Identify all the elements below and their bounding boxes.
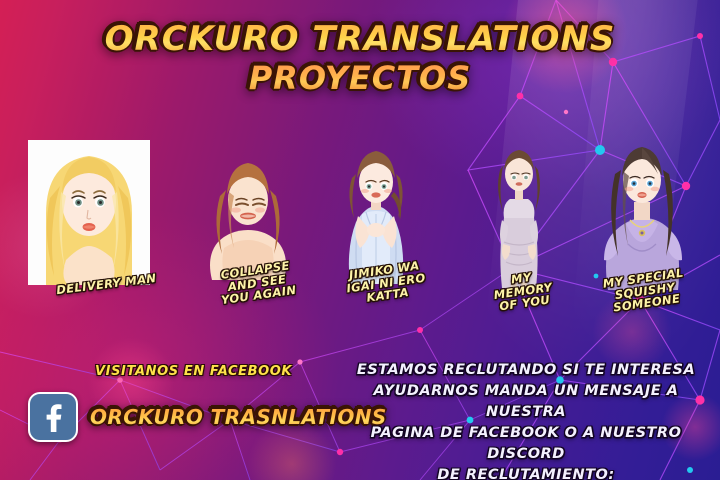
- title-line-secondary: PROYECTOS: [0, 62, 720, 94]
- facebook-icon[interactable]: [28, 392, 78, 442]
- project-character-my-memory-of-you: [478, 142, 560, 288]
- project-character-delivery-man: [28, 140, 150, 285]
- recruiting-message: ESTAMOS RECLUTANDO SI TE INTERESA AYUDAR…: [336, 360, 716, 480]
- promo-banner: ORCKURO TRANSLATIONS PROYECTOS: [0, 0, 720, 480]
- recruiting-line-4: DE RECLUTAMIENTO:: [336, 465, 716, 480]
- recruiting-line-2: AYUDARNOS MANDA UN MENSAJE A NUESTRA: [336, 381, 716, 423]
- banner-title: ORCKURO TRANSLATIONS PROYECTOS: [0, 22, 720, 94]
- facebook-heading: VISITANOS EN FACEBOOK: [95, 364, 292, 379]
- facebook-link-row[interactable]: ORCKURO TRASNLATIONS: [28, 392, 387, 442]
- title-line-primary: ORCKURO TRANSLATIONS: [0, 22, 720, 56]
- recruiting-line-3: PAGINA DE FACEBOOK O A NUESTRO DISCORD: [336, 423, 716, 465]
- recruiting-line-1: ESTAMOS RECLUTANDO SI TE INTERESA: [336, 360, 716, 381]
